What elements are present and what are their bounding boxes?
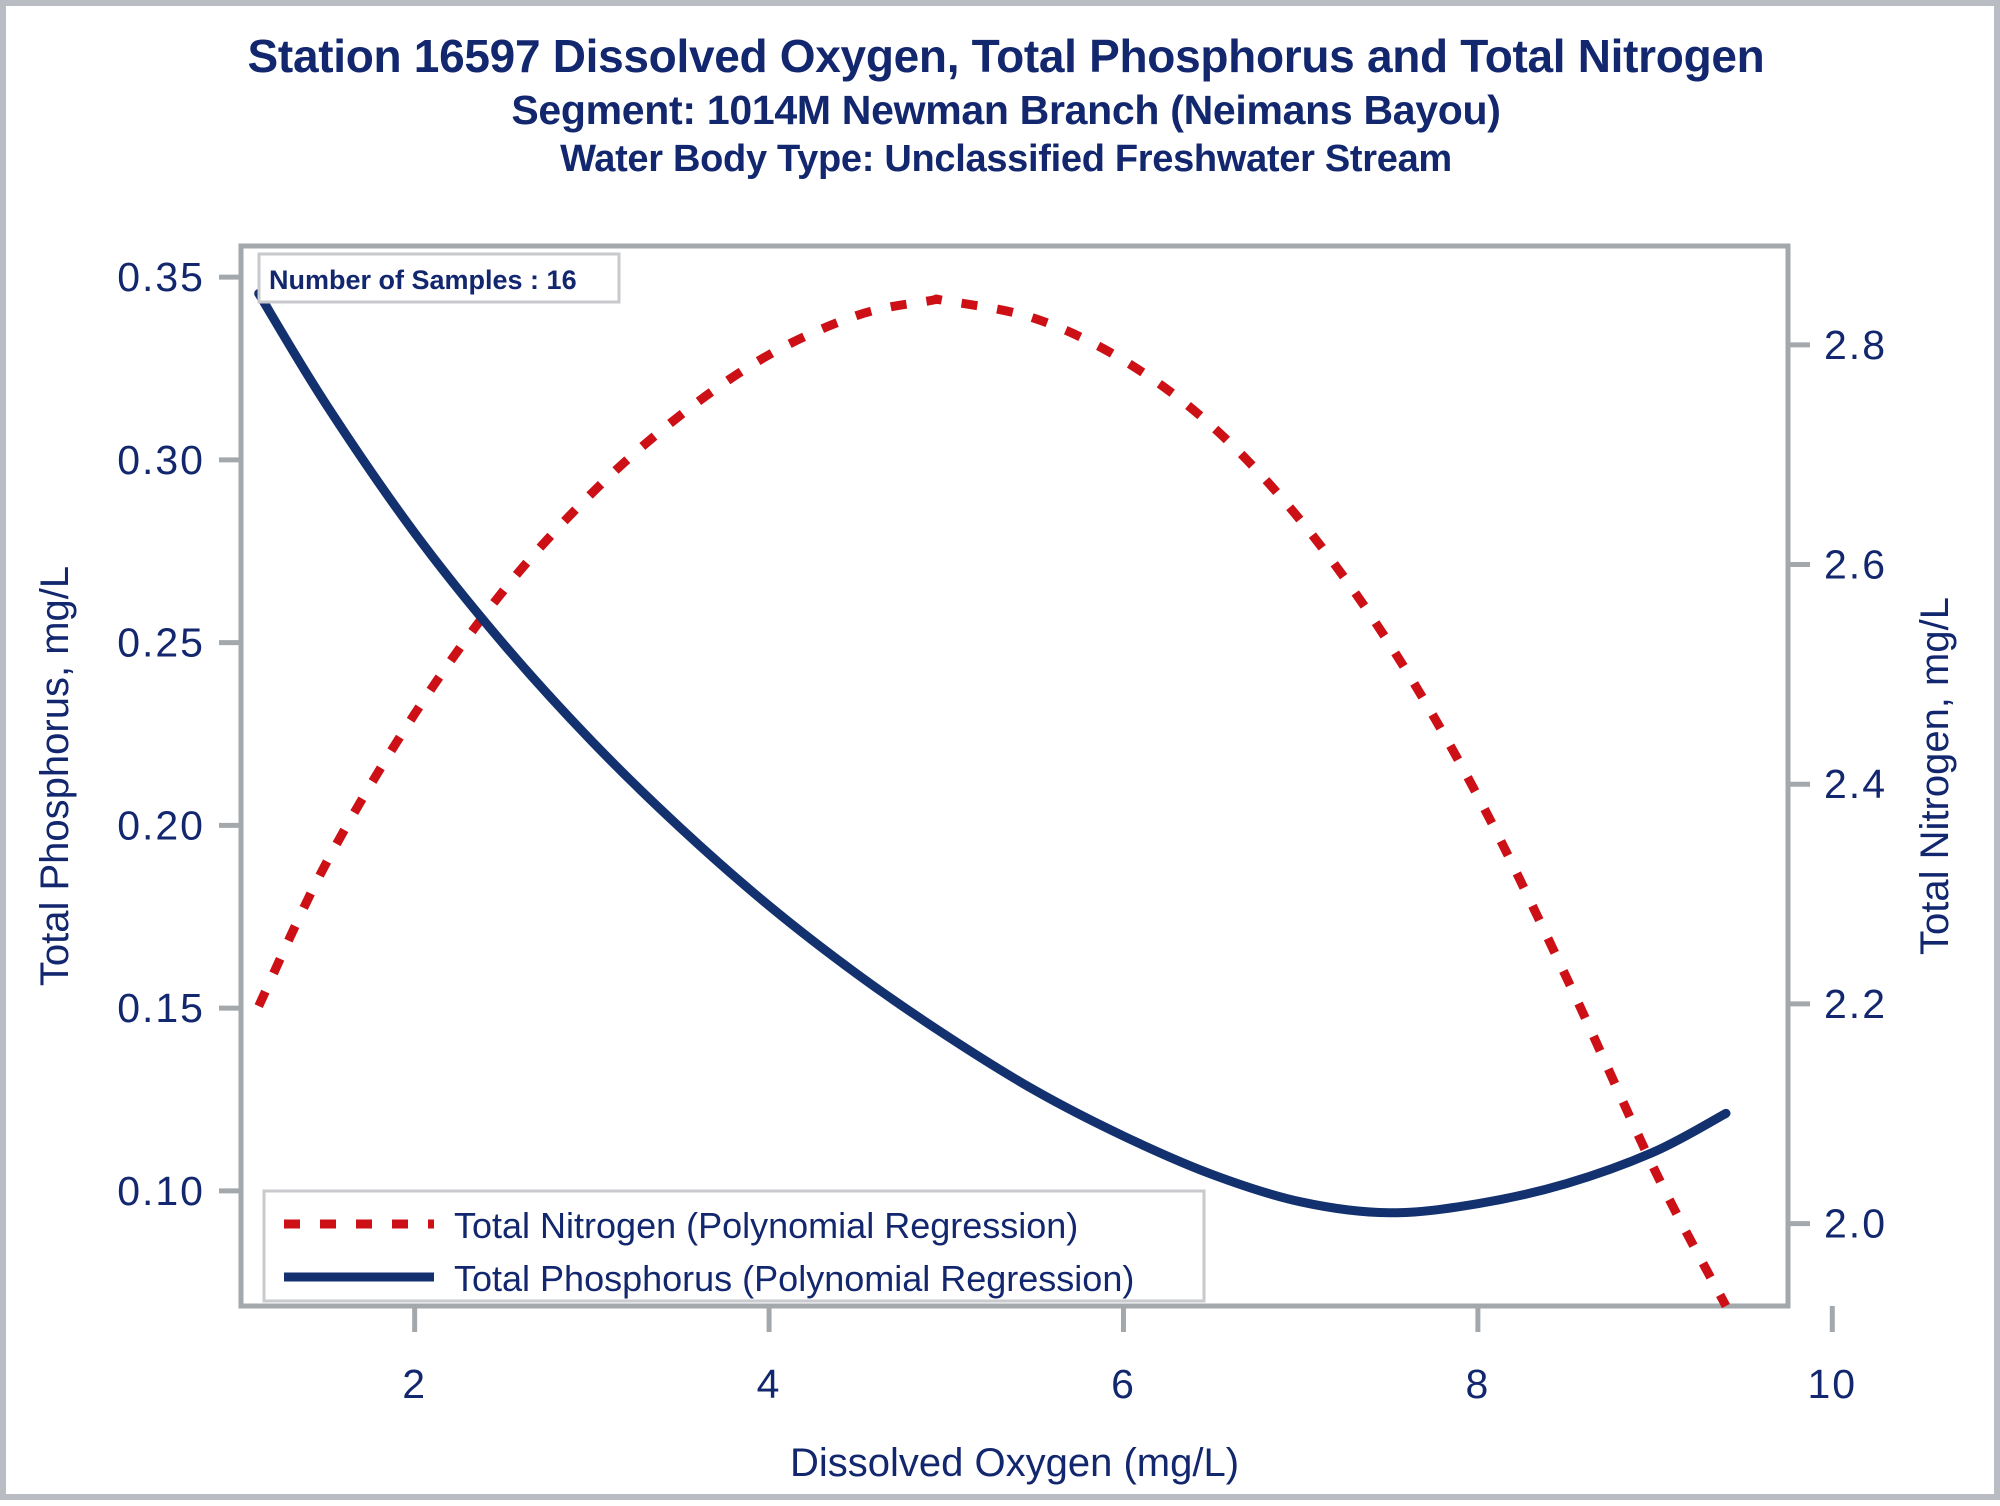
y-tick-label: 0.20 <box>117 802 205 848</box>
x-tick-label: 6 <box>1111 1361 1136 1407</box>
y2-axis-title: Total Nitrogen, mg/L <box>1913 597 1957 955</box>
y-tick-label: 0.30 <box>117 437 205 483</box>
series-total-phosphorus <box>259 294 1726 1213</box>
y-tick-label: 0.10 <box>117 1168 205 1214</box>
y-tick-label: 0.25 <box>117 620 205 666</box>
samples-annotation-label: Number of Samples : 16 <box>269 265 577 295</box>
legend-label-total-phosphorus: Total Phosphorus (Polynomial Regression) <box>454 1258 1134 1299</box>
x-tick-label: 8 <box>1465 1361 1490 1407</box>
y2-tick-label: 2.8 <box>1824 322 1887 368</box>
x-axis-title: Dissolved Oxygen (mg/L) <box>790 1441 1239 1485</box>
y-tick-label: 0.15 <box>117 985 205 1031</box>
y2-tick-label: 2.4 <box>1824 761 1887 807</box>
y2-tick-label: 2.0 <box>1824 1201 1887 1247</box>
series-total-nitrogen <box>259 299 1726 1306</box>
x-tick-label: 4 <box>757 1361 782 1407</box>
figure-frame: Station 16597 Dissolved Oxygen, Total Ph… <box>0 0 2000 1500</box>
legend-label-total-nitrogen: Total Nitrogen (Polynomial Regression) <box>454 1205 1078 1246</box>
x-tick-label: 2 <box>402 1361 427 1407</box>
x-tick-label: 10 <box>1807 1361 1857 1407</box>
plot-frame <box>241 246 1788 1306</box>
y2-tick-label: 2.2 <box>1824 981 1887 1027</box>
y2-tick-label: 2.6 <box>1824 542 1887 588</box>
y-axis-title: Total Phosphorus, mg/L <box>33 566 77 986</box>
y-tick-label: 0.35 <box>117 254 205 300</box>
chart-plot-area: 0.100.150.200.250.300.352.02.22.42.62.82… <box>6 6 2000 1506</box>
